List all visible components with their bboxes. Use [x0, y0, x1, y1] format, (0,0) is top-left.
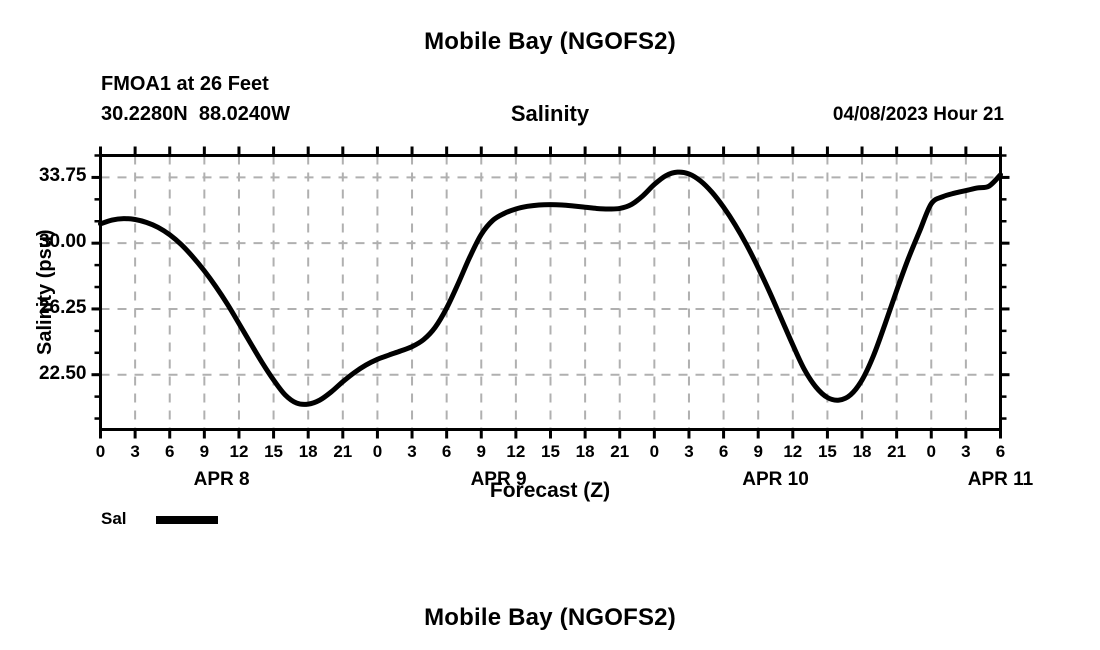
- plot-svg: [0, 0, 1100, 650]
- chart-canvas: Mobile Bay (NGOFS2) FMOA1 at 26 Feet 30.…: [0, 0, 1100, 650]
- legend-item-label: Sal: [101, 509, 127, 529]
- series-line-sal: [101, 172, 1001, 404]
- gridlines: [101, 156, 1001, 430]
- legend-swatch-sal: [156, 516, 218, 524]
- data-series-group: [101, 172, 1001, 404]
- chart-title-bottom: Mobile Bay (NGOFS2): [0, 604, 1100, 632]
